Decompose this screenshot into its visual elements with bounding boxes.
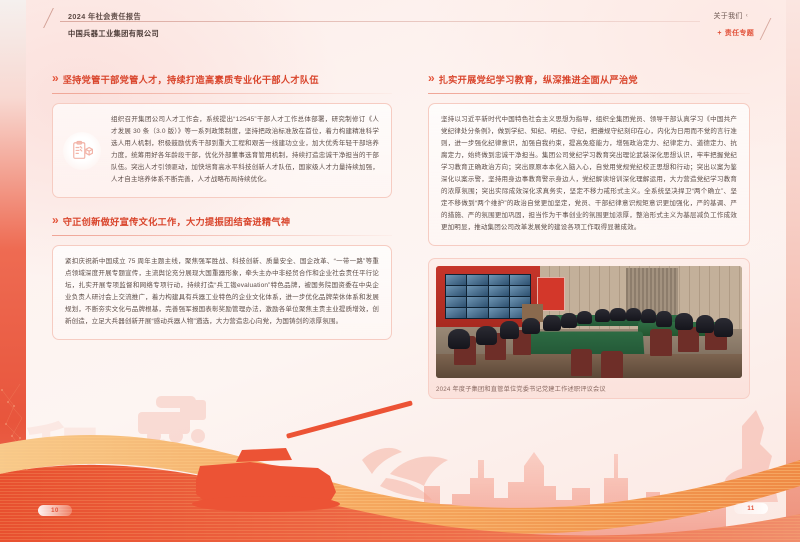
header-slash-left-decoration: [43, 8, 71, 28]
card-talent-body: 组织召开集团公司人才工作会，系统提出“12545”干部人才工作总体部署，研究制修…: [111, 114, 379, 186]
right-column: » 扎实开展党纪学习教育，纵深推进全面从严治党 坚持以习近平新时代中国特色社会主…: [428, 72, 750, 399]
header-rule: [60, 21, 700, 22]
clipboard-checklist-icon: [63, 132, 101, 170]
double-chevron-right-icon: »: [52, 214, 57, 226]
page-header: 2024 年社会责任报告 中国兵器工业集团有限公司 关于我们 ‹ + 责任专题: [0, 0, 800, 52]
chevron-left-icon: ‹: [746, 13, 748, 19]
monument-silhouette: [716, 410, 778, 502]
section-rule-talent: [52, 93, 392, 94]
card-talent: 组织召开集团公司人才工作会，系统提出“12545”干部人才工作总体部署，研究制修…: [52, 103, 392, 198]
report-page: 和 平 2024 年社会责任报告 中国兵器工业集团有限公司 关于我们 ‹ + 责…: [0, 0, 800, 542]
nav-about-us[interactable]: 关于我们 ‹: [713, 11, 748, 21]
meeting-attendees: [436, 266, 742, 378]
spine-dot-pattern: [0, 380, 26, 500]
footer-decoration: [0, 382, 800, 542]
dove-flag-silhouette: [362, 448, 448, 500]
military-vehicle-silhouette: [138, 396, 206, 443]
plus-icon: +: [717, 30, 721, 37]
section-heading-discipline: » 扎实开展党纪学习教育，纵深推进全面从严治党: [428, 72, 750, 93]
nav-responsibility-topic-label: 责任专题: [725, 28, 754, 38]
nav-about-us-label: 关于我们: [713, 11, 742, 21]
section-heading-culture: » 守正创新做好宣传文化工作，大力提振团结奋进精气神: [52, 214, 392, 235]
tank-silhouette: [192, 400, 413, 512]
double-chevron-right-icon: »: [428, 72, 433, 84]
section-title-culture: 守正创新做好宣传文化工作，大力提振团结奋进精气神: [63, 214, 291, 228]
orange-ribbon-wave: [0, 435, 800, 534]
watermark-character-1: 和: [24, 398, 102, 510]
right-edge-decoration: [786, 0, 800, 542]
photo-frame: 2024 年度子集团和直管单位党委书记党建工作述职评议会议: [428, 258, 750, 399]
card-discipline: 坚持以习近平新时代中国特色社会主义思想为指导，组织全集团党员、领导干部认真学习《…: [428, 103, 750, 246]
section-title-talent: 坚持党管干部党管人才，持续打造高素质专业化干部人才队伍: [63, 72, 319, 86]
left-column: » 坚持党管干部党管人才，持续打造高素质专业化干部人才队伍 组织召开集团公司人才…: [52, 72, 392, 340]
city-skyline-silhouette: [150, 452, 726, 542]
page-number-left: 10: [38, 505, 72, 516]
watermark-character-2: 平: [110, 418, 170, 505]
page-number-right: 11: [734, 503, 768, 514]
card-culture: 紧扣庆祝新中国成立 75 周年主题主线，聚焦强军胜战、科技创新、质量安全、国企改…: [52, 245, 392, 340]
section-rule-culture: [52, 235, 392, 236]
nav-responsibility-topic[interactable]: + 责任专题: [717, 28, 754, 38]
card-culture-body: 紧扣庆祝新中国成立 75 周年主题主线，聚焦强军胜战、科技创新、质量安全、国企改…: [65, 256, 379, 328]
photo-caption: 2024 年度子集团和直管单位党委书记党建工作述职评议会议: [436, 384, 742, 393]
red-base-wave: [0, 465, 800, 542]
company-name: 中国兵器工业集团有限公司: [68, 29, 159, 39]
party-building-meeting-photo: [436, 266, 742, 378]
report-title: 2024 年社会责任报告: [68, 12, 141, 22]
double-chevron-right-icon: »: [52, 72, 57, 84]
section-title-discipline: 扎实开展党纪学习教育，纵深推进全面从严治党: [439, 72, 638, 86]
left-spine-decoration: [0, 0, 26, 542]
section-heading-talent: » 坚持党管干部党管人才，持续打造高素质专业化干部人才队伍: [52, 72, 392, 93]
section-rule-discipline: [428, 93, 750, 94]
card-discipline-body: 坚持以习近平新时代中国特色社会主义思想为指导，组织全集团党员、领导干部认真学习《…: [441, 114, 737, 234]
